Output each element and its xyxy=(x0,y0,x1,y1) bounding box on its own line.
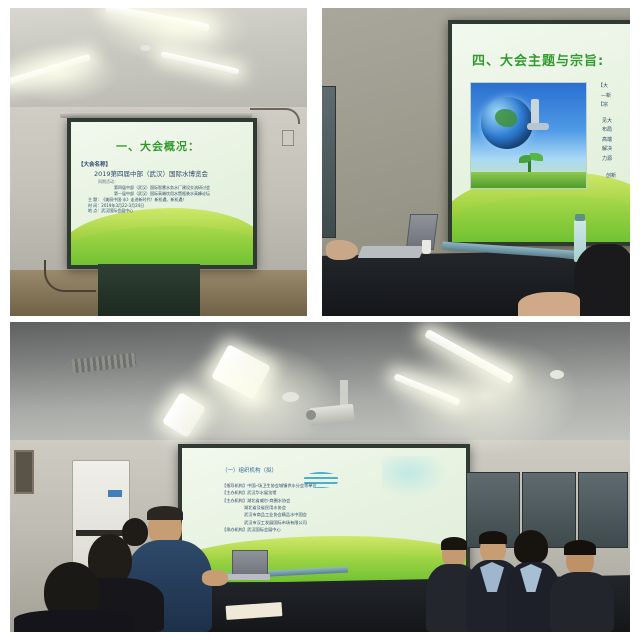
ceiling xyxy=(10,8,307,113)
slide-line: 见大 xyxy=(602,117,616,127)
attendee-hand xyxy=(326,240,358,260)
wall-cable xyxy=(250,108,300,124)
slide-line: 第一届中部（武汉）国际高端饮用水暨瓶装水高峰论坛 xyxy=(114,191,210,197)
paper-cup xyxy=(422,240,431,254)
projected-slide: 四、大会主题与宗旨: xyxy=(452,24,630,242)
globe-continent xyxy=(495,109,517,127)
sprout-leaf xyxy=(530,153,543,161)
photo-collage: 一、大会概况： 【大会名称】 2019第四届中部（武汉）国际水博览会 同期活动：… xyxy=(0,0,640,640)
window-panel xyxy=(578,472,628,548)
slide-line: 【主办机构】武汉华水展览馆 xyxy=(222,489,317,496)
attendee-body xyxy=(550,572,614,632)
attendee-hair xyxy=(479,531,507,544)
faucet-spout xyxy=(527,123,549,130)
attendee-body xyxy=(14,610,134,632)
room-scene-top-left: 一、大会概况： 【大会名称】 2019第四届中部（武汉）国际水博览会 同期活动：… xyxy=(10,8,307,316)
slide-line: 武汉市汉工发展国际市场有限公司 xyxy=(244,519,317,526)
door-frame xyxy=(322,86,336,238)
room-scene-top-right: 四、大会主题与宗旨: xyxy=(322,8,630,316)
slide-image xyxy=(470,82,587,189)
projected-slide: 一、大会概况： 【大会名称】 2019第四届中部（武汉）国际水博览会 同期活动：… xyxy=(71,122,253,265)
attendee-hair xyxy=(441,537,467,550)
panel-bottom: （一）组织机构（拟） 【指导机构】中国ރ场卫生协会城镇供水分会等单位 【主办机构… xyxy=(10,322,630,632)
slide-line: 【大 xyxy=(598,82,616,92)
slide-line: 解决 xyxy=(602,145,616,155)
slide-line: 武汉市商品工业协会精品水中国会 xyxy=(244,511,317,518)
panel-top-right: 四、大会主题与宗旨: xyxy=(322,8,630,316)
ac-badge xyxy=(108,490,122,497)
slide-line: 布局 xyxy=(602,126,616,136)
slide-title: 四、大会主题与宗旨: xyxy=(472,50,604,69)
bottle-cap xyxy=(575,214,585,221)
projected-slide: （一）组织机构（拟） 【指导机构】中国ރ场卫生协会城镇供水分会等单位 【主办机构… xyxy=(182,448,466,582)
slide-line: 【指导机构】中国ރ场卫生协会城镇供水分会等单位 xyxy=(222,482,317,489)
table-skirt xyxy=(98,264,200,316)
slide-body: 【指导机构】中国ރ场卫生协会城镇供水分会等单位 【主办机构】武汉华水展览馆 【主… xyxy=(222,482,317,533)
framed-picture xyxy=(14,450,34,494)
slide-line: 湖北省及省民用水协会 xyxy=(244,504,317,511)
slide-line: —新 xyxy=(601,92,616,102)
speaker-hair xyxy=(147,506,183,520)
smoke-detector-icon xyxy=(140,45,151,51)
slide-line: 创新 xyxy=(606,172,616,182)
room-scene-bottom: （一）组织机构（拟） 【指导机构】中国ރ场卫生协会城镇供水分会等单位 【主办机构… xyxy=(10,322,630,632)
panel-top-left: 一、大会概况： 【大会名称】 2019第四届中部（武汉）国际水博览会 同期活动：… xyxy=(10,8,307,316)
slide-title: 一、大会概况： xyxy=(116,138,200,154)
floor-cable xyxy=(44,260,96,292)
slide-line: 【主办机构】湖北省威尔·商圈水协会 xyxy=(222,497,317,504)
wall-outlet-icon xyxy=(282,130,294,146)
slide-title: （一）组织机构（拟） xyxy=(222,466,277,474)
slide-watermark-icon xyxy=(382,456,448,498)
attendee-hair xyxy=(514,530,548,564)
slide-line: 力源 xyxy=(602,155,616,165)
laptop-keyboard xyxy=(226,574,270,580)
slide-line: 2019第四届中部（武汉）国际水博览会 xyxy=(94,170,210,179)
laptop-keyboard xyxy=(358,246,425,258)
slide-side-text: 【大 —新 【宗 见大 布局 高端 解决 力源 创新 xyxy=(598,82,616,182)
attendee-foreground xyxy=(574,244,630,316)
slide-line: 同期活动： xyxy=(98,179,210,185)
attendee-arm xyxy=(518,292,580,316)
ceiling xyxy=(10,322,630,446)
attendee-hair xyxy=(564,540,596,555)
projection-screen: 一、大会概况： 【大会名称】 2019第四届中部（武汉）国际水博览会 同期活动：… xyxy=(67,118,257,269)
slide-line: 高端 xyxy=(602,136,616,146)
smoke-detector-icon xyxy=(282,392,299,402)
slide-wave-decoration-2 xyxy=(71,226,253,265)
projector-lens-icon xyxy=(306,410,316,420)
slide-line: 【宗 xyxy=(598,101,616,111)
projection-screen: 四、大会主题与宗旨: xyxy=(448,20,630,246)
smoke-detector-icon xyxy=(550,370,564,379)
slide-line: 【承办机构】武汉国际会展中心 xyxy=(222,526,317,533)
slide-body: 【大会名称】 2019第四届中部（武汉）国际水博览会 同期活动： 第四届中部（武… xyxy=(78,162,210,214)
grass-ground xyxy=(471,172,586,188)
projection-screen: （一）组织机构（拟） 【指导机构】中国ރ场卫生协会城镇供水分会等单位 【主办机构… xyxy=(178,444,470,586)
slide-line: 【大会名称】 xyxy=(78,162,210,170)
speaker-hand xyxy=(202,570,228,586)
slide-line: 地 点：武汉国际会展中心 xyxy=(88,208,210,214)
